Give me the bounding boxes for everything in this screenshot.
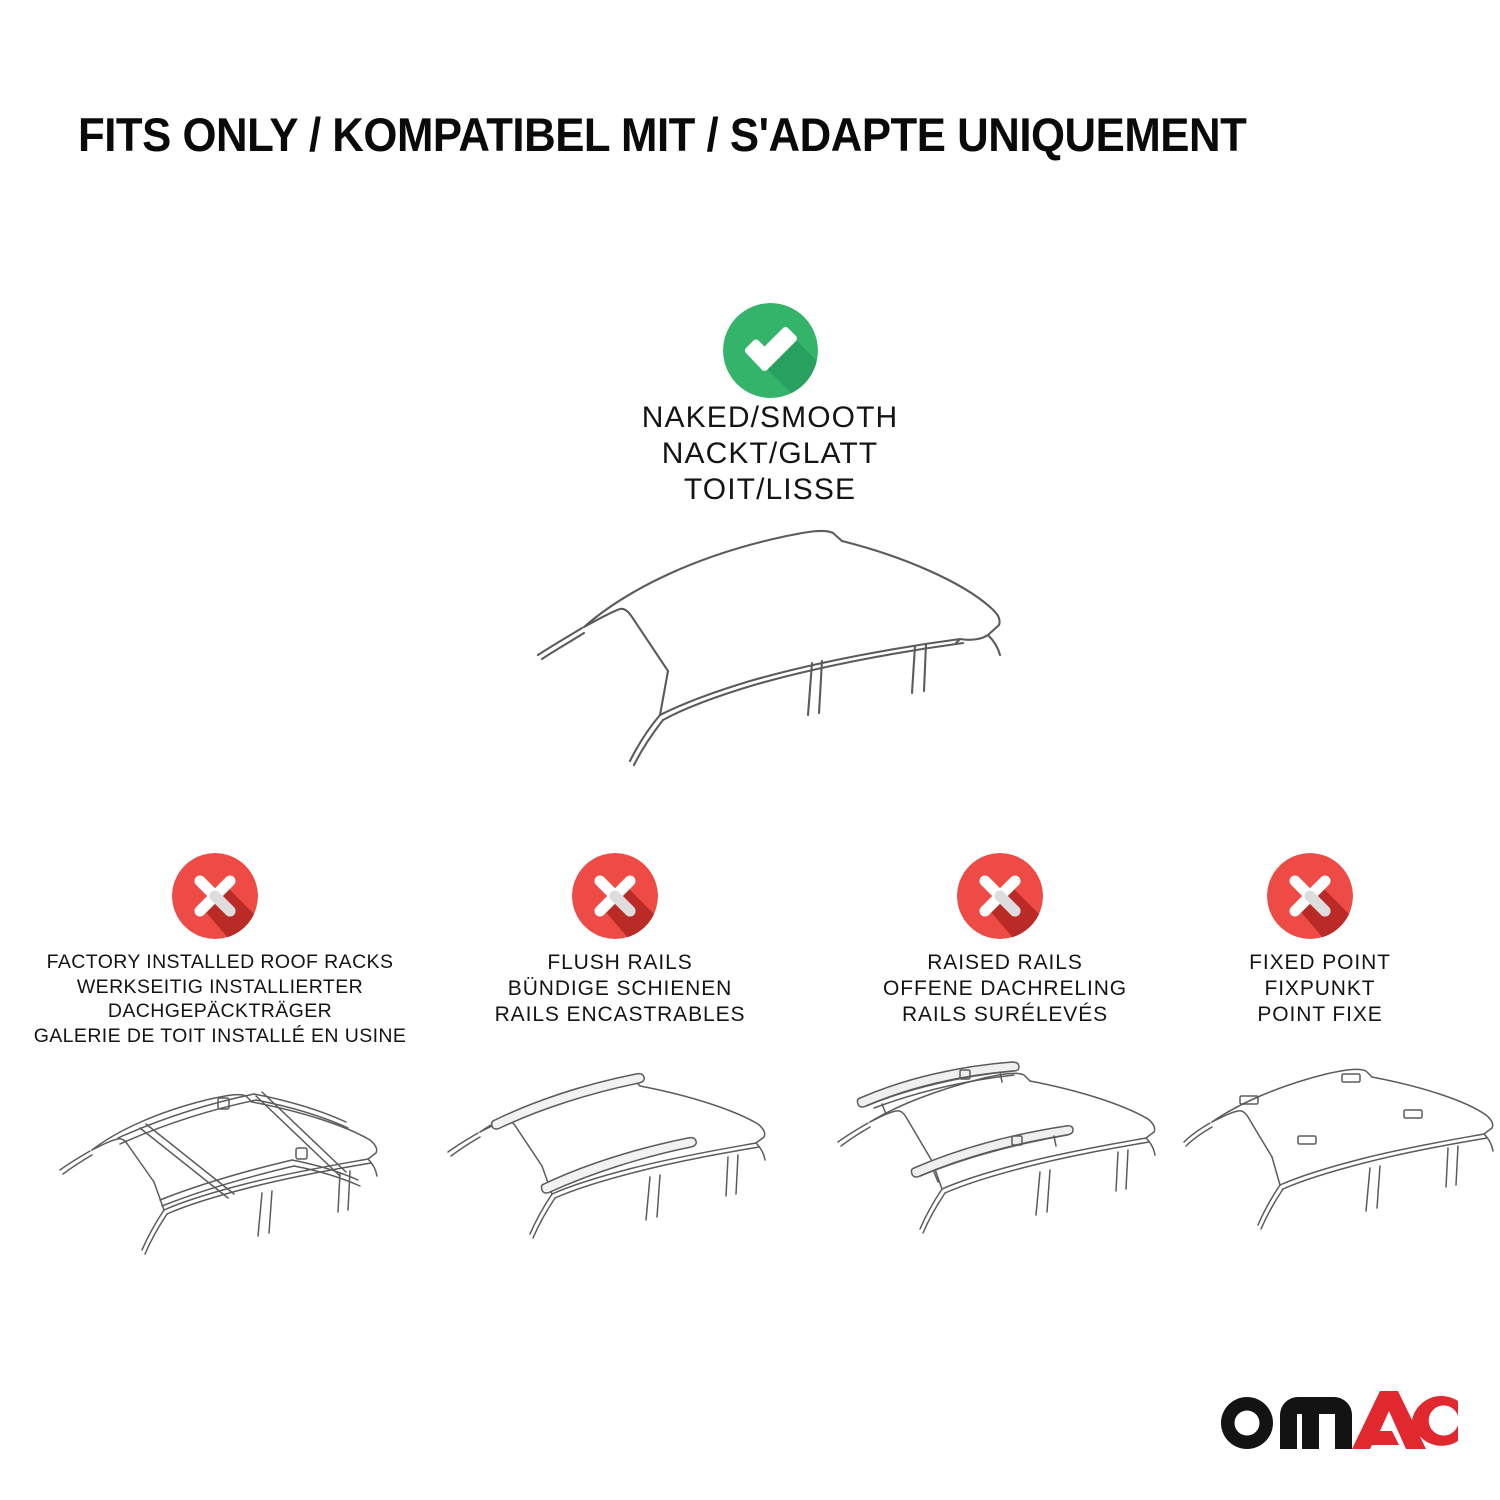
label-line: RAILS SURÉLEVÉS	[825, 1002, 1185, 1028]
compatible-label-line-1: NAKED/SMOOTH	[570, 400, 970, 436]
compatible-label: NAKED/SMOOTH NACKT/GLATT TOIT/LISSE	[570, 400, 970, 508]
label-line: FIXPUNKT	[1160, 976, 1480, 1002]
smooth-roof-illustration	[520, 515, 1010, 805]
label-line: GALERIE DE TOIT INSTALLÉ EN USINE	[20, 1024, 420, 1049]
page-title: FITS ONLY / KOMPATIBEL MIT / S'ADAPTE UN…	[78, 108, 1343, 162]
check-circle-svg	[723, 303, 818, 398]
raised-rail-roof-illustration	[830, 1060, 1210, 1280]
factory-rack-roof-svg	[40, 1060, 440, 1280]
x-circle-icon	[1267, 853, 1353, 939]
omac-logo-svg	[1212, 1385, 1462, 1455]
x-circle-svg	[957, 853, 1043, 939]
x-circle-icon	[572, 853, 658, 939]
compatible-label-line-3: TOIT/LISSE	[570, 472, 970, 508]
label-line: DACHGEPÄCKTRÄGER	[20, 999, 420, 1024]
label-line: RAISED RAILS	[825, 950, 1185, 976]
label-line: FLUSH RAILS	[440, 950, 800, 976]
check-circle-icon	[723, 303, 818, 398]
fixed-point-roof-svg	[1180, 1060, 1500, 1280]
x-circle-svg	[172, 853, 258, 939]
raised-rail-roof-svg	[830, 1060, 1210, 1280]
label-factory-installed-roof-racks: FACTORY INSTALLED ROOF RACKS WERKSEITIG …	[20, 950, 420, 1048]
compatible-label-line-2: NACKT/GLATT	[570, 436, 970, 472]
label-line: BÜNDIGE SCHIENEN	[440, 976, 800, 1002]
flush-rail-roof-svg	[440, 1060, 820, 1280]
label-raised-rails: RAISED RAILS OFFENE DACHRELING RAILS SUR…	[825, 950, 1185, 1028]
x-circle-svg	[1267, 853, 1353, 939]
omac-logo	[1212, 1385, 1462, 1460]
label-line: RAILS ENCASTRABLES	[440, 1002, 800, 1028]
fixed-point-roof-illustration	[1180, 1060, 1500, 1280]
factory-rack-roof-illustration	[40, 1060, 440, 1280]
x-circle-icon	[172, 853, 258, 939]
smooth-roof-svg	[520, 515, 1010, 805]
label-fixed-point: FIXED POINT FIXPUNKT POINT FIXE	[1160, 950, 1480, 1028]
flush-rail-roof-illustration	[440, 1060, 820, 1280]
label-line: FIXED POINT	[1160, 950, 1480, 976]
x-circle-svg	[572, 853, 658, 939]
label-line: FACTORY INSTALLED ROOF RACKS	[20, 950, 420, 975]
label-line: OFFENE DACHRELING	[825, 976, 1185, 1002]
x-circle-icon	[957, 853, 1043, 939]
compatibility-infographic: FITS ONLY / KOMPATIBEL MIT / S'ADAPTE UN…	[0, 0, 1500, 1500]
label-line: POINT FIXE	[1160, 1002, 1480, 1028]
label-flush-rails: FLUSH RAILS BÜNDIGE SCHIENEN RAILS ENCAS…	[440, 950, 800, 1028]
label-line: WERKSEITIG INSTALLIERTER	[20, 975, 420, 1000]
